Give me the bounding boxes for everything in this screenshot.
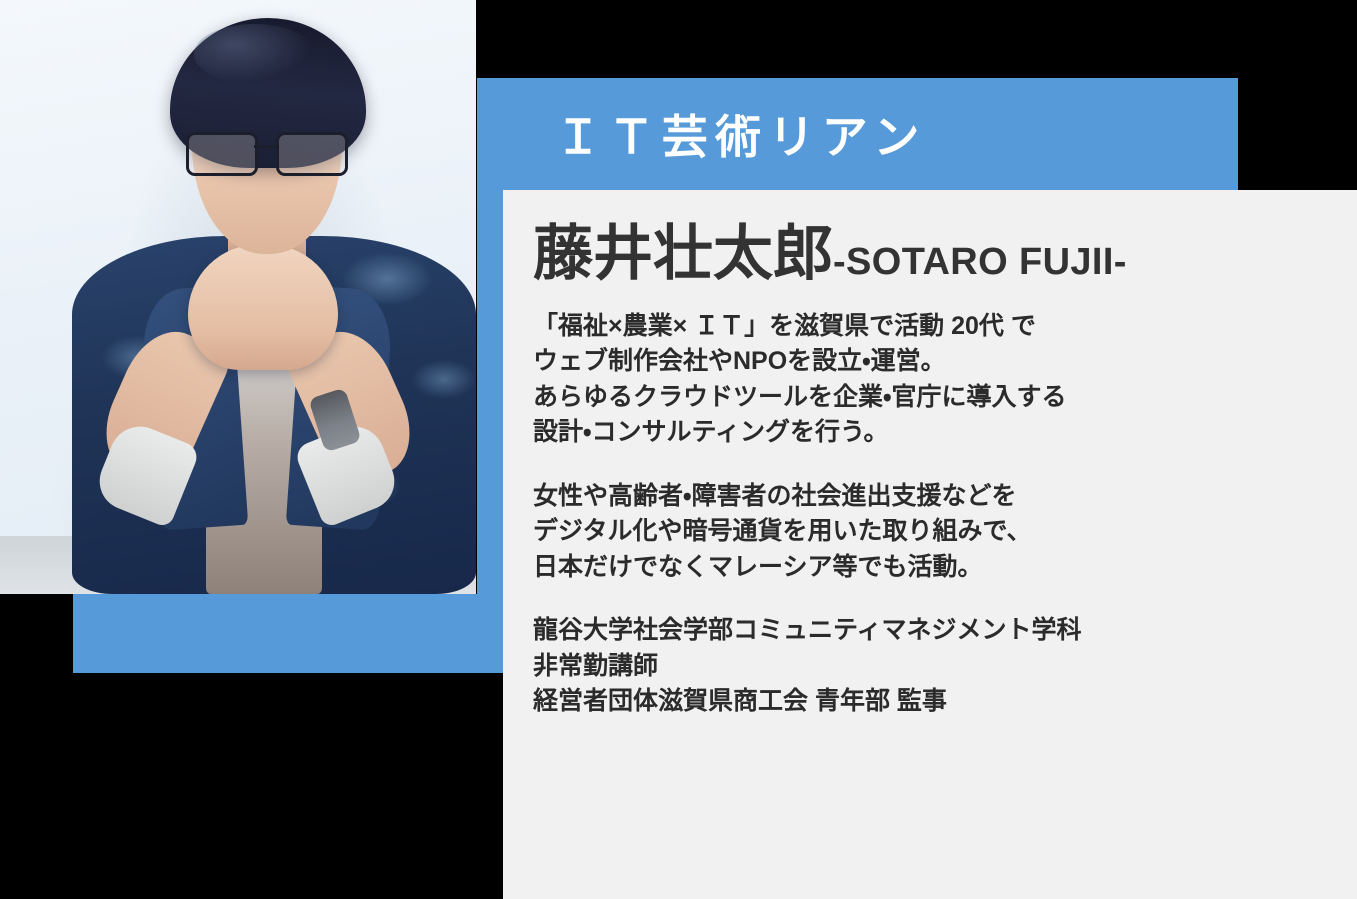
header-title: ＩＴ芸術リアン bbox=[555, 101, 927, 167]
bio-paragraph-affiliations: 龍谷大学社会学部コミュニティマネジメント学科 非常勤講師 経営者団体滋賀県商工会… bbox=[533, 613, 1327, 720]
bio-paragraph-activities: 「福祉×農業× ＩＴ」を滋賀県で活動 20代 で ウェブ制作会社やNPOを設立・… bbox=[533, 309, 1327, 451]
bio-paragraph-social-initiatives: 女性や高齢者・障害者の社会進出支援などを デジタル化や暗号通貨を用いた取り組みで… bbox=[533, 479, 1327, 586]
glasses-lens-left bbox=[186, 132, 258, 176]
profile-slide: ＩＴ芸術リアン 藤井壮太郎-SOTARO FUJII- 「福祉×農業× ＩＴ」を… bbox=[0, 0, 1357, 899]
person-name-japanese: 藤井壮太郎 bbox=[533, 220, 833, 287]
header-band: ＩＴ芸術リアン bbox=[477, 78, 1238, 190]
accent-block-below-photo bbox=[73, 594, 497, 673]
photo-glasses bbox=[186, 132, 348, 172]
person-name-romaji: -SOTARO FUJII- bbox=[833, 241, 1127, 283]
photo-background bbox=[0, 0, 476, 594]
profile-info-card: 藤井壮太郎-SOTARO FUJII- 「福祉×農業× ＩＴ」を滋賀県で活動 2… bbox=[503, 190, 1357, 899]
accent-rail-left bbox=[477, 190, 503, 673]
photo-clasped-hands bbox=[188, 244, 338, 370]
glasses-lens-right bbox=[276, 132, 348, 176]
person-name: 藤井壮太郎-SOTARO FUJII- bbox=[533, 222, 1327, 287]
profile-photo bbox=[0, 0, 476, 594]
